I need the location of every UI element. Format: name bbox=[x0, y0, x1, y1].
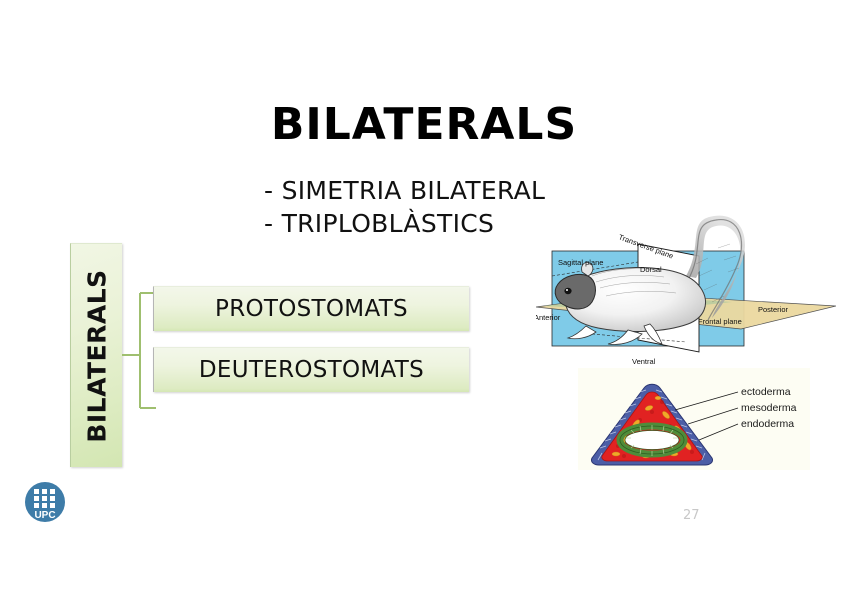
diagram-node-deuterostomats[interactable]: DEUTEROSTOMATS bbox=[153, 347, 469, 392]
label-posterior: Posterior bbox=[758, 305, 789, 314]
bullet-item-simetria: - SIMETRIA BILATERAL bbox=[264, 174, 684, 207]
page-title: BILATERALS bbox=[0, 99, 848, 150]
diagram-root-bar: BILATERALS bbox=[70, 243, 122, 467]
squirrel-eye-shape bbox=[564, 288, 571, 294]
label-ventral: Ventral bbox=[632, 357, 656, 366]
org-diagram: BILATERALS PROTOSTOMATS DEUTEROSTOMATS bbox=[70, 243, 480, 468]
upc-logo[interactable]: UPC bbox=[24, 481, 66, 523]
label-dorsal: Dorsal bbox=[640, 265, 662, 274]
slide-canvas: BILATERALS - SIMETRIA BILATERAL - TRIPLO… bbox=[0, 0, 848, 599]
diagram-node-label: PROTOSTOMATS bbox=[215, 296, 408, 322]
label-ectoderma: ectoderma bbox=[741, 386, 791, 398]
label-mesoderma: mesoderma bbox=[741, 402, 797, 414]
diagram-root-label: BILATERALS bbox=[82, 269, 111, 442]
label-endoderma: endoderma bbox=[741, 418, 794, 430]
diagram-node-label: DEUTEROSTOMATS bbox=[199, 357, 424, 383]
upc-logo-grid bbox=[34, 489, 55, 508]
label-frontal-plane: Frontal plane bbox=[698, 317, 742, 326]
upc-logo-text: UPC bbox=[34, 510, 55, 521]
label-anterior: Anterior bbox=[536, 313, 561, 322]
squirrel-planes-diagram: Sagittal plane Transverse plane Dorsal V… bbox=[536, 214, 836, 374]
label-sagittal-plane: Sagittal plane bbox=[558, 258, 603, 267]
diagram-node-protostomats[interactable]: PROTOSTOMATS bbox=[153, 286, 469, 331]
page-number: 27 bbox=[683, 508, 700, 523]
germ-layer-cross-section: ectoderma mesoderma endoderma bbox=[578, 368, 810, 470]
